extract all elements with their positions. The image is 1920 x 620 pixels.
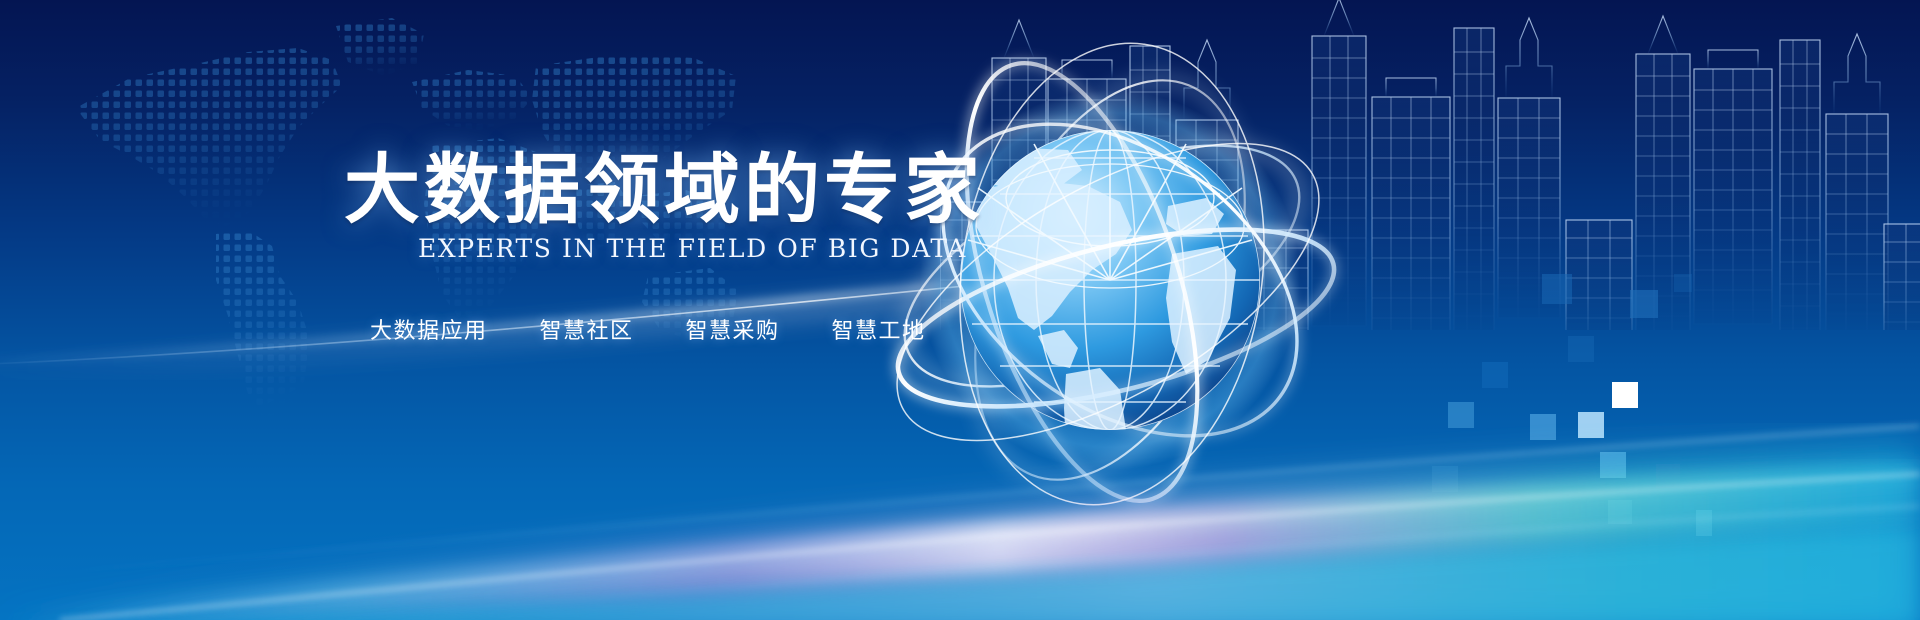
big-data-hero-banner: 大数据领域的专家 EXPERTS IN THE FIELD OF BIG DAT… [0,0,1920,620]
city-skyline-icon [940,0,1920,330]
hero-text-block: 大数据领域的专家 EXPERTS IN THE FIELD OF BIG DAT… [0,0,940,620]
keyword-item-smart-construction-site[interactable]: 智慧工地 [832,313,926,345]
keyword-item-smart-community[interactable]: 智慧社区 [540,313,634,345]
keyword-list: 大数据应用 智慧社区 智慧采购 智慧工地 [370,313,926,345]
page-title: 大数据领域的专家 [344,152,984,228]
page-subtitle: EXPERTS IN THE FIELD OF BIG DATA [418,234,967,263]
square-mosaic-icon [1460,270,1920,620]
keyword-item-smart-procurement[interactable]: 智慧采购 [686,313,780,345]
keyword-item-big-data-application[interactable]: 大数据应用 [370,313,488,345]
